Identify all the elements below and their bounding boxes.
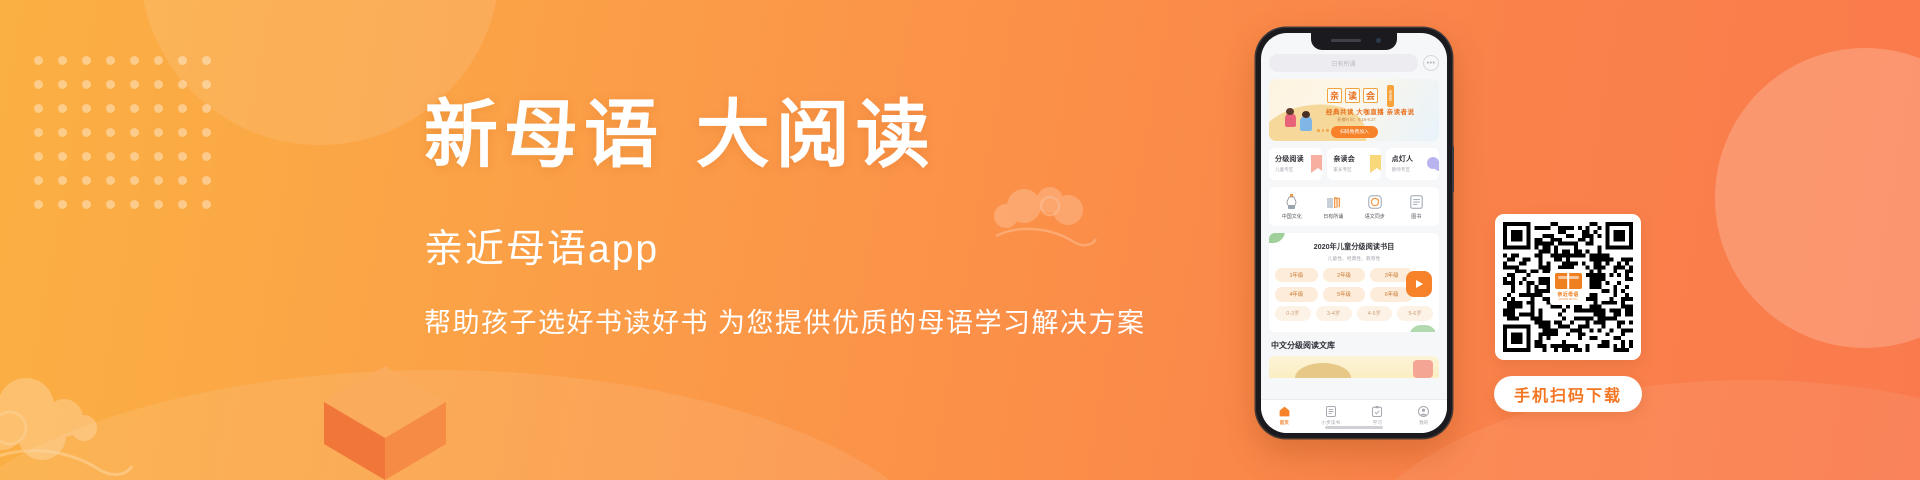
decorative-dot-grid <box>34 56 235 224</box>
banner-tagline: 帮助孩子选好书读好书 为您提供优质的母语学习解决方案 <box>424 301 1204 340</box>
library-card-arc <box>1295 363 1351 378</box>
user-circle-icon <box>1401 405 1448 418</box>
circle-sync-icon <box>1354 194 1396 210</box>
quick-entry-label: 语文同步 <box>1354 213 1396 220</box>
tab-reading[interactable]: 小步读书 <box>1308 405 1355 426</box>
age-chip[interactable]: 4-5岁 <box>1357 306 1393 321</box>
phone-screen: 日有所诵 ••• 亲 读 会 亲读会 经典共读 大咖直播 亲读者说 <box>1261 33 1447 433</box>
child-illustration-1 <box>1285 113 1296 127</box>
hero-title-char: 读 <box>1345 88 1360 103</box>
download-button[interactable]: 手机扫码下载 <box>1494 376 1642 412</box>
promo-banner: 新母语 大阅读 亲近母语app 帮助孩子选好书读好书 为您提供优质的母语学习解决… <box>0 0 1920 480</box>
library-card[interactable] <box>1269 356 1439 378</box>
cloud-shape-icon <box>1427 155 1439 173</box>
entry-card-teacher[interactable]: 点灯人 教师专区 <box>1386 148 1439 180</box>
quick-entry-daily-recite[interactable]: 日有所诵 <box>1313 194 1355 220</box>
page-title: 新母语 大阅读 <box>424 96 1204 174</box>
more-dots-icon[interactable]: ••• <box>1423 55 1439 71</box>
booklist-title: 2020年儿童分级阅读书目 <box>1275 242 1433 252</box>
qr-code-card: 亲近母语 QINJIN MUYU <box>1495 214 1641 360</box>
logo-name: 亲近母语 <box>1557 291 1578 298</box>
app-search-row: 日有所诵 ••• <box>1269 54 1439 72</box>
logo-book-shape <box>1555 273 1582 289</box>
age-chip-row: 0-3岁 3-4岁 4-5岁 5-6岁 <box>1275 306 1433 321</box>
entry-card-parent-club[interactable]: 亲读会 家长专区 <box>1327 148 1380 180</box>
decorative-circle-right <box>1715 48 1920 348</box>
cube-decoration <box>320 360 450 480</box>
phone-mockup: 日有所诵 ••• 亲 读 会 亲读会 经典共读 大咖直播 亲读者说 <box>1256 28 1452 438</box>
quick-entry-label: 图书 <box>1396 213 1438 220</box>
quick-entry-label: 日有所诵 <box>1313 213 1355 220</box>
home-indicator <box>1325 426 1383 429</box>
grade-booklist-panel: 2020年儿童分级阅读书目 儿童性、经典性、教育性 1年级 2年级 3年级 4年… <box>1269 233 1439 333</box>
tab-label: 我的 <box>1401 420 1448 426</box>
qr-download-block: 亲近母语 QINJIN MUYU 手机扫码下载 <box>1483 214 1653 412</box>
video-play-icon[interactable] <box>1406 271 1432 297</box>
grade-chip[interactable]: 1年级 <box>1275 268 1318 283</box>
quick-icon-row: 中国文化 日有所诵 <box>1269 187 1439 226</box>
tab-profile[interactable]: 我的 <box>1401 405 1448 426</box>
grade-chip[interactable]: 4年级 <box>1275 287 1318 302</box>
tab-label: 小步读书 <box>1308 420 1355 426</box>
age-chip[interactable]: 0-3岁 <box>1275 306 1311 321</box>
carousel-dots[interactable] <box>1317 129 1329 132</box>
entry-card-list: 分级阅读 儿童专区 亲读会 家长专区 点灯人 <box>1269 148 1439 180</box>
hero-flag-badge: 亲读会 <box>1387 85 1394 107</box>
hero-flag-text: 亲读会 <box>1388 90 1393 101</box>
quick-entry-label: 中国文化 <box>1271 213 1313 220</box>
list-icon <box>1308 405 1355 418</box>
tab-label: 首页 <box>1261 420 1308 426</box>
tab-label: 学习 <box>1354 420 1401 426</box>
home-icon <box>1261 405 1308 418</box>
quick-entry-sync-chinese[interactable]: 语文同步 <box>1354 194 1396 220</box>
library-section-title: 中文分级阅读文库 <box>1269 339 1439 356</box>
tab-home[interactable]: 首页 <box>1261 405 1308 426</box>
app-hero-banner[interactable]: 亲 读 会 亲读会 经典共读 大咖直播 亲读者说 直播时间：9.16-9.27 … <box>1269 79 1439 141</box>
search-input[interactable]: 日有所诵 <box>1269 54 1418 72</box>
grade-chip[interactable]: 2年级 <box>1323 268 1366 283</box>
decorative-hill-left <box>0 370 960 480</box>
leaf-decoration-bottom-right <box>1409 325 1437 332</box>
cloud-decoration-left <box>0 366 170 480</box>
app-name: 亲近母语app <box>424 218 1204 274</box>
entry-card-graded-reading[interactable]: 分级阅读 儿童专区 <box>1269 148 1322 180</box>
bookmark-shape-icon <box>1310 155 1322 173</box>
phone-notch <box>1311 33 1397 50</box>
library-card-thumb <box>1413 360 1433 378</box>
logo-pinyin: QINJIN MUYU <box>1558 298 1577 301</box>
hero-title-char: 亲 <box>1327 88 1342 103</box>
hero-date: 直播时间：9.16-9.27 <box>1337 117 1376 123</box>
vase-icon <box>1271 194 1313 210</box>
brand-logo: 亲近母语 QINJIN MUYU <box>1550 269 1586 305</box>
hero-subtitle: 经典共读 大咖直播 亲读者说 <box>1326 107 1415 116</box>
quick-entry-chinese-culture[interactable]: 中国文化 <box>1271 194 1313 220</box>
hero-cta-button[interactable]: 扫码免费加入 <box>1331 126 1378 138</box>
page-shape-icon <box>1369 155 1381 173</box>
banner-copy: 新母语 大阅读 亲近母语app 帮助孩子选好书读好书 为您提供优质的母语学习解决… <box>424 96 1204 340</box>
hero-title: 亲 读 会 <box>1327 88 1378 103</box>
booklist-subtitle: 儿童性、经典性、教育性 <box>1275 255 1433 262</box>
hero-title-char: 会 <box>1363 88 1378 103</box>
clipboard-check-icon <box>1354 405 1401 418</box>
quick-entry-books[interactable]: 图书 <box>1396 194 1438 220</box>
child-illustration-2 <box>1300 116 1312 131</box>
open-book-icon <box>1313 194 1355 210</box>
age-chip[interactable]: 5-6岁 <box>1397 306 1433 321</box>
grade-chip[interactable]: 5年级 <box>1323 287 1366 302</box>
bottom-tab-bar: 首页 小步读书 <box>1261 399 1447 433</box>
age-chip[interactable]: 3-4岁 <box>1316 306 1352 321</box>
book-icon <box>1396 194 1438 210</box>
tab-study[interactable]: 学习 <box>1354 405 1401 426</box>
